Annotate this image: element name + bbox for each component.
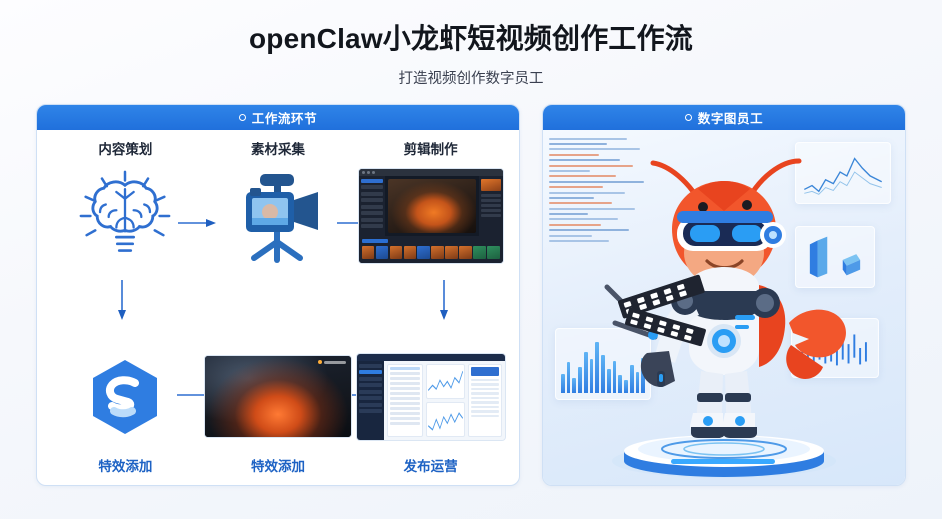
editor-right-sidebar	[479, 176, 503, 236]
digital-employee-panel: 数字图员工	[542, 104, 906, 486]
panels-container: 工作流环节	[0, 88, 942, 486]
dashboard-body	[357, 361, 505, 440]
workflow-grid: 内容策划	[37, 130, 519, 485]
analytics-dashboard-thumbnail[interactable]	[356, 353, 506, 441]
workflow-step-5-label: 特效添加	[251, 455, 305, 475]
dashboard-main	[384, 361, 505, 440]
workflow-step-1-art	[77, 164, 173, 268]
editor-timeline[interactable]	[359, 236, 503, 263]
mascot-scene	[543, 130, 905, 485]
digital-employee-panel-header: 数字图员工	[543, 105, 905, 130]
page-header: openClaw小龙虾短视频创作工作流 打造视频创作数字员工	[0, 0, 942, 88]
dashboard-chart-column	[426, 364, 465, 437]
editor-main	[359, 176, 503, 236]
dashboard-detail-column	[468, 364, 502, 437]
workflow-step-4-art	[88, 345, 162, 449]
page-subtitle: 打造视频创作数字员工	[0, 67, 942, 88]
workflow-step-2-label: 素材采集	[251, 138, 305, 158]
circle-dot-icon	[685, 114, 692, 121]
dashboard-titlebar	[357, 354, 505, 361]
workflow-panel-body: 内容策划	[37, 130, 519, 485]
crayfish-dish-photo[interactable]	[204, 355, 352, 438]
crayfish-dish-image	[205, 356, 351, 437]
page-title: openClaw小龙虾短视频创作工作流	[0, 22, 942, 56]
editor-left-sidebar	[359, 176, 385, 236]
dashboard-line-chart-2	[426, 402, 465, 437]
dashboard-line-chart-1	[426, 364, 465, 399]
editor-preview-pane	[385, 176, 479, 236]
brain-bulb-icon	[77, 168, 173, 264]
photo-watermark	[318, 360, 346, 364]
workflow-step-5-art	[204, 345, 352, 449]
workflow-step-3-label: 剪辑制作	[404, 138, 458, 158]
video-editor-thumbnail[interactable]	[358, 168, 504, 264]
digital-employee-panel-body	[543, 130, 905, 485]
dashboard-sidebar[interactable]	[357, 361, 384, 440]
dashboard-list-column[interactable]	[387, 364, 423, 437]
workflow-step-5[interactable]: 特效添加	[202, 306, 355, 475]
workflow-step-3[interactable]: 剪辑制作	[354, 138, 507, 307]
workflow-panel-header: 工作流环节	[37, 105, 519, 130]
digital-employee-panel-title: 数字图员工	[698, 108, 764, 127]
video-camera-icon	[226, 166, 330, 266]
workflow-step-6[interactable]: 发布运营	[354, 306, 507, 475]
crayfish-robot-mascot	[593, 145, 855, 445]
workflow-step-2-art	[226, 164, 330, 268]
editor-titlebar	[359, 169, 503, 176]
workflow-step-6-label: 发布运营	[404, 455, 458, 475]
workflow-step-6-art	[356, 345, 506, 449]
workflow-step-2[interactable]: 素材采集	[202, 138, 355, 307]
workflow-step-4[interactable]: 特效添加	[49, 306, 202, 475]
workflow-panel: 工作流环节	[36, 104, 520, 486]
circle-dot-icon	[239, 114, 246, 121]
workflow-step-4-label: 特效添加	[98, 455, 152, 475]
workflow-step-1[interactable]: 内容策划	[49, 138, 202, 307]
workflow-panel-title: 工作流环节	[252, 108, 318, 127]
workflow-step-3-art	[358, 164, 504, 268]
hexagon-s-logo-icon	[88, 357, 162, 437]
workflow-step-1-label: 内容策划	[98, 138, 152, 158]
crayfish-preview-image	[388, 179, 476, 233]
